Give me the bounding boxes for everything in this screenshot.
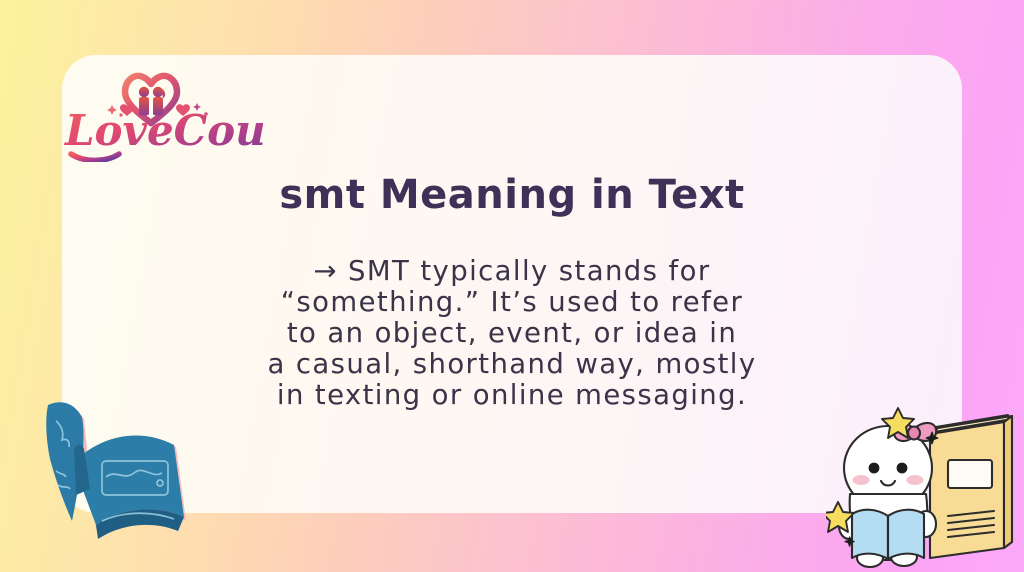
brand-logo[interactable]: LoveCouplez xyxy=(63,62,263,162)
open-book-illustration xyxy=(18,385,218,572)
brand-wordmark: LoveCouplez xyxy=(64,106,263,160)
open-book-icon xyxy=(46,402,186,539)
mascot-reading-illustration xyxy=(826,398,1024,572)
page-title: smt Meaning in Text xyxy=(0,172,1024,218)
brand-wordmark-text: LoveCouplez xyxy=(64,106,263,155)
blue-book-icon xyxy=(852,510,924,559)
yellow-book-icon xyxy=(930,415,1012,558)
